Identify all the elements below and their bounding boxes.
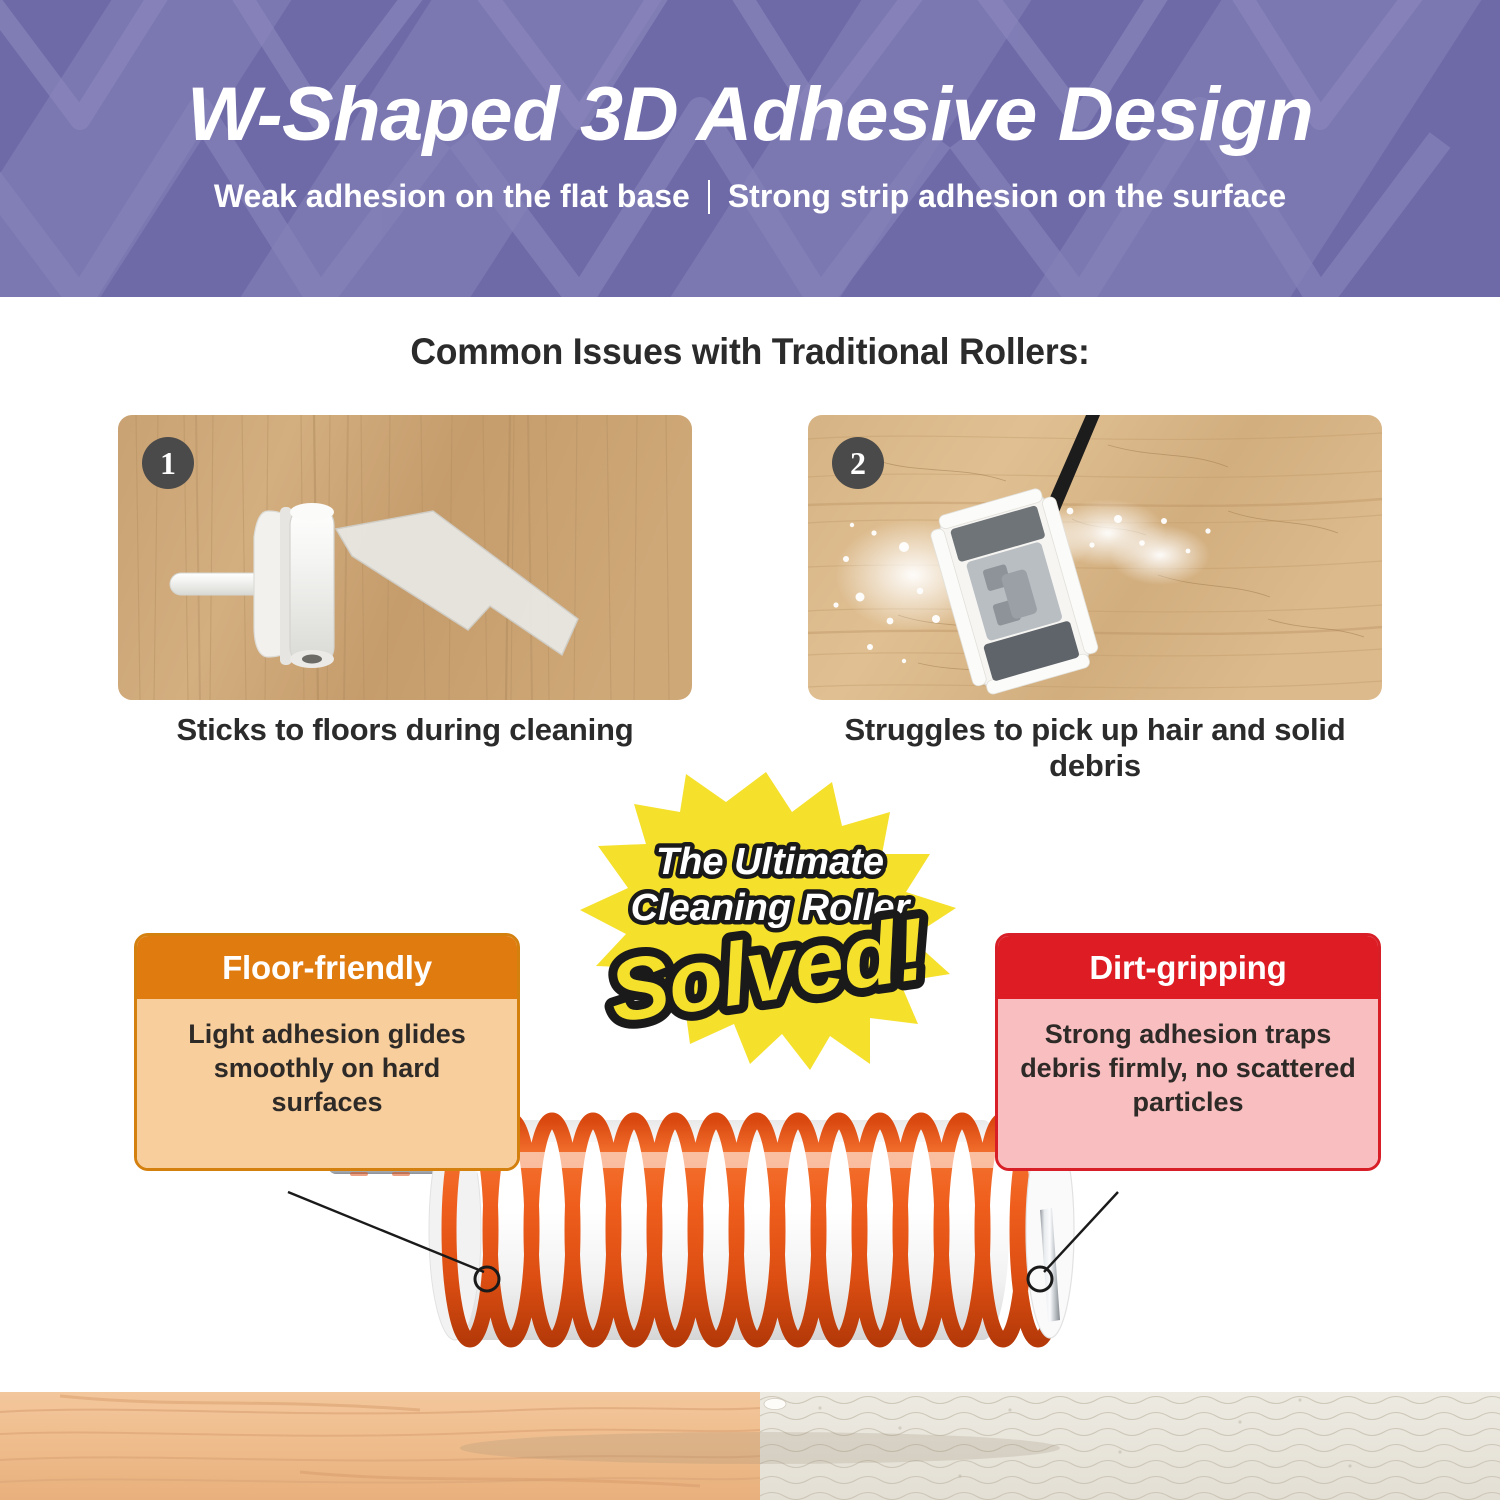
header-subtitle-right: Strong strip adhesion on the surface: [728, 178, 1286, 215]
photo-1-number-badge: 1: [142, 437, 194, 489]
issue-photo-2: 2: [808, 415, 1382, 700]
infographic-page: W-Shaped 3D Adhesive Design Weak adhesio…: [0, 0, 1500, 1500]
header-title: W-Shaped 3D Adhesive Design: [187, 76, 1313, 154]
solved-burst-badge: The Ultimate The Ultimate Cleaning Rolle…: [570, 768, 970, 1073]
issues-section-title: Common Issues with Traditional Rollers:: [30, 331, 1470, 373]
header-subtitle-left: Weak adhesion on the flat base: [214, 178, 690, 215]
callout-dirt-gripping-title: Dirt-gripping: [998, 936, 1378, 999]
flat-mop-photo: [808, 415, 1382, 700]
lint-roller-photo: [118, 415, 692, 700]
callout-floor-friendly-body: Light adhesion glides smoothly on hard s…: [137, 999, 517, 1168]
header-subtitle: Weak adhesion on the flat base Strong st…: [214, 178, 1286, 215]
callout-floor-friendly: Floor-friendly Light adhesion glides smo…: [134, 933, 520, 1171]
callout-floor-friendly-title: Floor-friendly: [137, 936, 517, 999]
callout-dirt-gripping: Dirt-gripping Strong adhesion traps debr…: [995, 933, 1381, 1171]
issue-photo-1-caption: Sticks to floors during cleaning: [118, 712, 692, 748]
issue-photo-1: 1: [118, 415, 692, 700]
header-banner: W-Shaped 3D Adhesive Design Weak adhesio…: [0, 0, 1500, 297]
burst-line1: The Ultimate: [656, 841, 884, 883]
subtitle-divider: [708, 180, 710, 214]
photo-2-number-badge: 2: [832, 437, 884, 489]
roller-cylinder: [429, 1120, 1074, 1340]
callout-dirt-gripping-body: Strong adhesion traps debris firmly, no …: [998, 999, 1378, 1168]
burst-text-group: The Ultimate The Ultimate Cleaning Rolle…: [570, 768, 970, 1073]
